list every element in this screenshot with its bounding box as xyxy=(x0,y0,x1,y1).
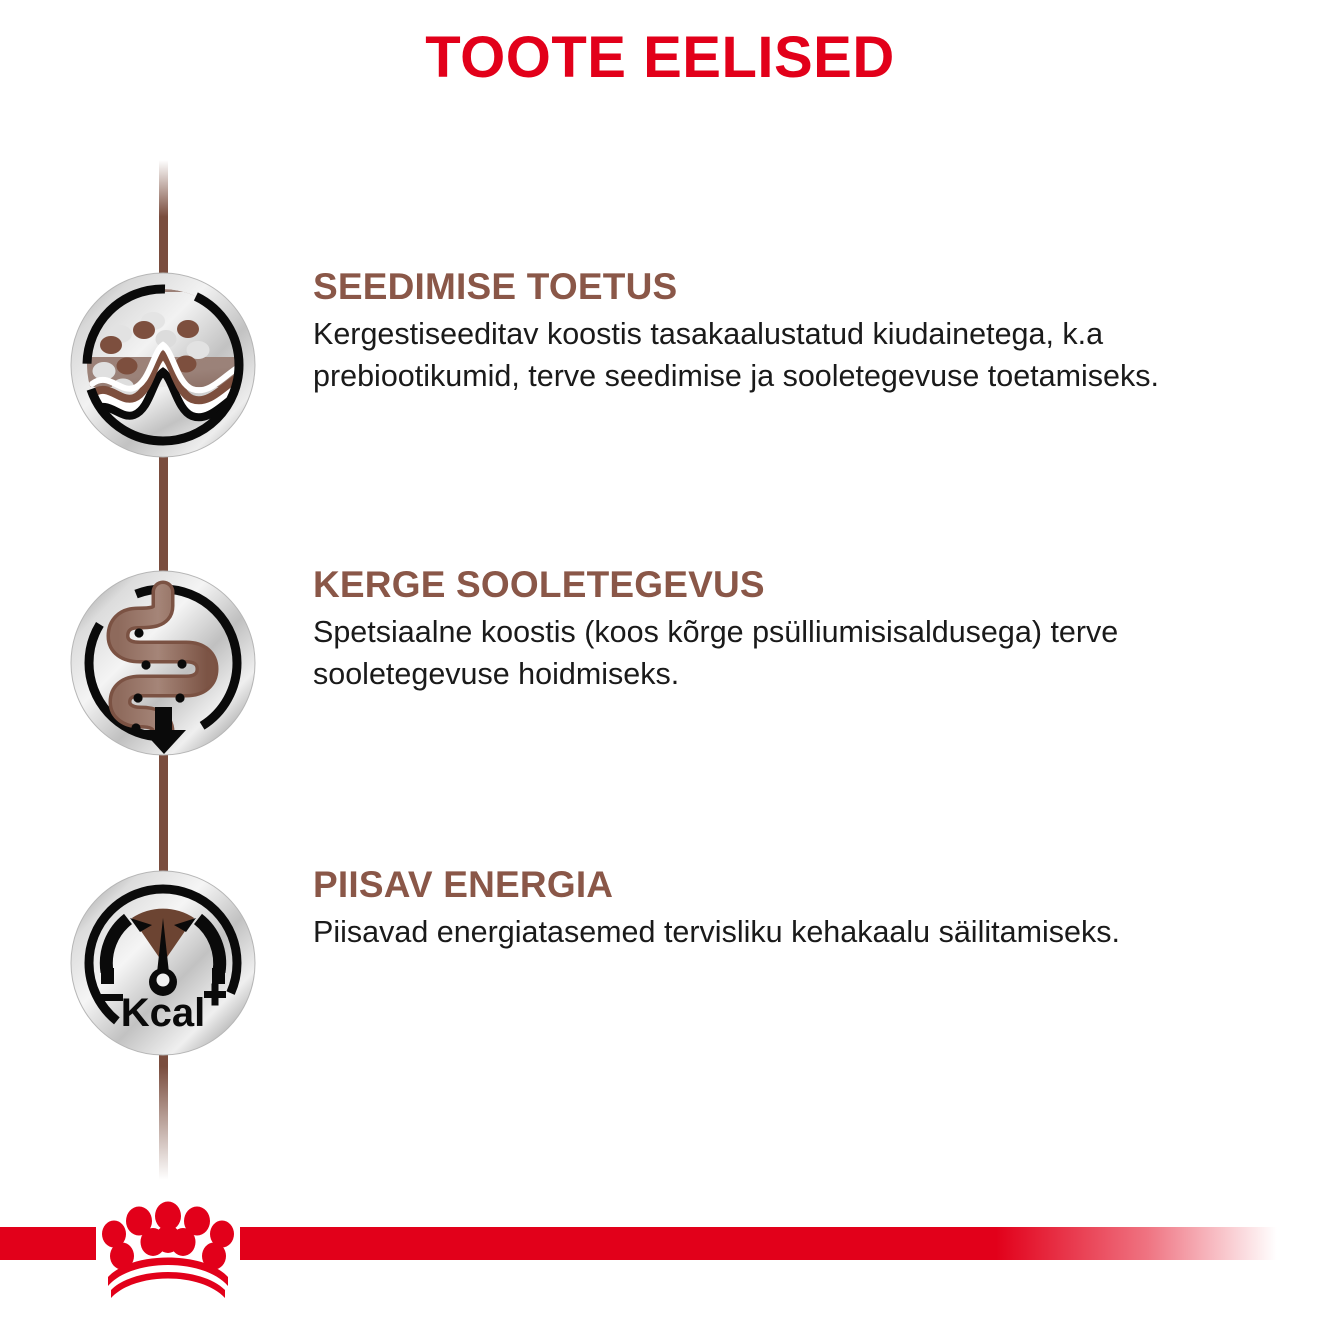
gauge-kcal-label: Kcal xyxy=(121,991,206,1035)
footer xyxy=(0,1190,1320,1320)
benefit-heading: SEEDIMISE TOETUS xyxy=(313,267,1303,307)
benefit-item-adapted-energy: Kcal PIISAV ENERGIA Piisavad energiatase… xyxy=(0,865,1320,1065)
benefit-item-easy-transit: KERGE SOOLETEGEVUS Spetsiaalne koostis (… xyxy=(0,565,1320,765)
benefit-text-block: PIISAV ENERGIA Piisavad energiatasemed t… xyxy=(313,865,1303,954)
footer-red-bar-left xyxy=(0,1227,96,1260)
intestine-arrow-icon xyxy=(70,570,256,756)
royal-canin-crown-logo xyxy=(92,1194,244,1306)
footer-red-bar-right xyxy=(240,1227,1320,1260)
benefit-body: Piisavad energiatasemed tervisliku kehak… xyxy=(313,912,1303,954)
benefit-text-block: SEEDIMISE TOETUS Kergestiseeditav koosti… xyxy=(313,267,1303,398)
benefit-text-block: KERGE SOOLETEGEVUS Spetsiaalne koostis (… xyxy=(313,565,1303,696)
benefit-item-digestive-support: SEEDIMISE TOETUS Kergestiseeditav koosti… xyxy=(0,267,1320,467)
benefit-heading: PIISAV ENERGIA xyxy=(313,865,1303,905)
page-title: TOOTE EELISED xyxy=(0,26,1320,90)
digestive-kibble-icon xyxy=(70,272,256,458)
benefit-body: Kergestiseeditav koostis tasakaalustatud… xyxy=(313,314,1303,398)
benefit-heading: KERGE SOOLETEGEVUS xyxy=(313,565,1303,605)
kcal-gauge-icon: Kcal xyxy=(70,870,256,1056)
benefit-body: Spetsiaalne koostis (koos kõrge psüllium… xyxy=(313,612,1303,696)
